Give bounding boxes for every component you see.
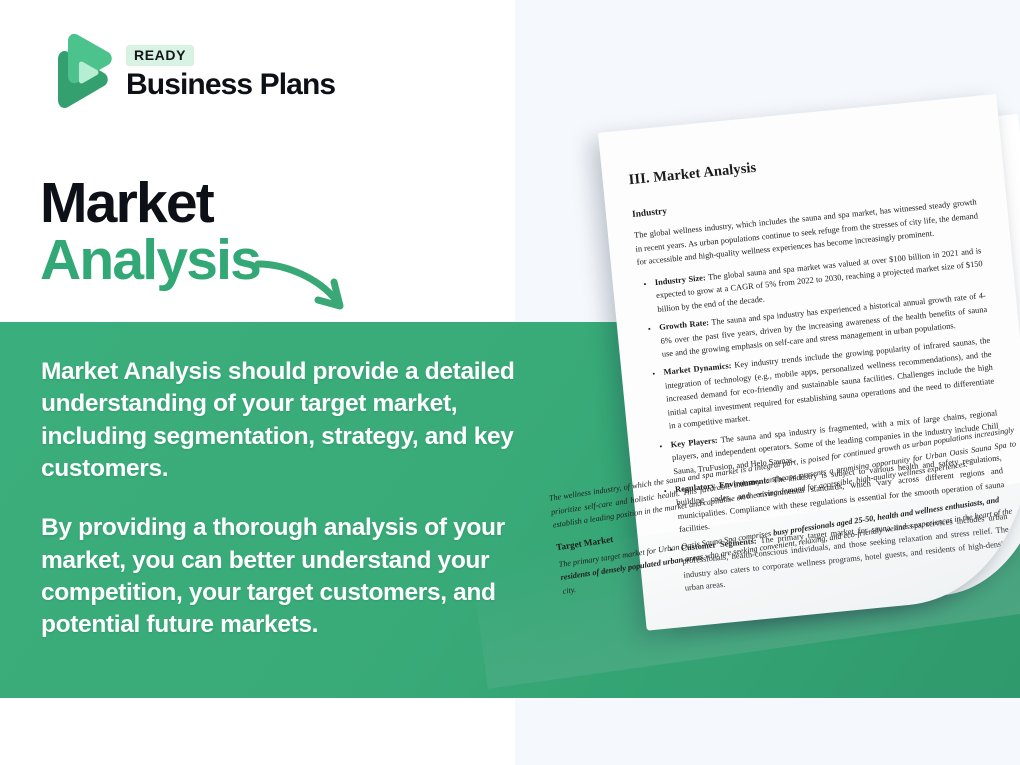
brand-wordmark: READY Business Plans bbox=[126, 41, 335, 101]
brand-name: Business Plans bbox=[126, 69, 335, 101]
panel-copy-block: Market Analysis should provide a detaile… bbox=[41, 356, 561, 642]
title-line-2: Analysis bbox=[40, 233, 260, 288]
title-line-1: Market bbox=[40, 176, 260, 231]
page-title: Market Analysis bbox=[40, 176, 260, 287]
play-logo-icon bbox=[42, 33, 114, 109]
brand-logo[interactable]: READY Business Plans bbox=[42, 33, 335, 109]
curved-arrow-down-right-icon bbox=[252, 252, 362, 324]
panel-paragraph-2: By providing a thorough analysis of your… bbox=[41, 512, 561, 641]
ready-badge: READY bbox=[126, 45, 194, 66]
panel-paragraph-1: Market Analysis should provide a detaile… bbox=[41, 356, 561, 485]
slide-canvas: READY Business Plans Market Analysis Mar… bbox=[0, 0, 1020, 765]
green-content-panel: Market Analysis should provide a detaile… bbox=[0, 322, 1020, 698]
